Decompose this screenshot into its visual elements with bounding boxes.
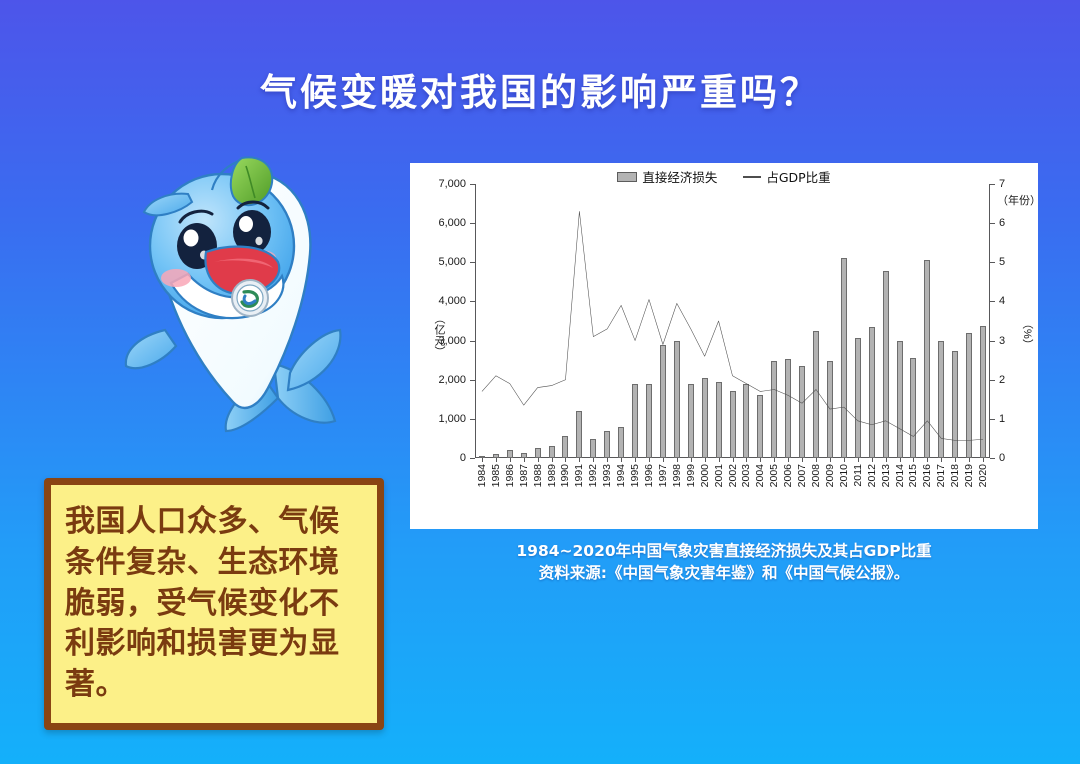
line-series (475, 184, 990, 458)
x-axis-tick (872, 458, 873, 462)
y-axis-right-label: 0 (999, 452, 1005, 464)
x-axis-tick (649, 458, 650, 462)
x-axis-label-2013: 2013 (880, 464, 892, 487)
x-axis-tick (969, 458, 970, 462)
y-axis-right-label: 6 (999, 217, 1005, 229)
x-axis-label-1990: 1990 (559, 464, 571, 487)
x-axis-label-2019: 2019 (963, 464, 975, 487)
x-axis-tick (719, 458, 720, 462)
x-axis-label-2005: 2005 (768, 464, 780, 487)
x-axis-tick (955, 458, 956, 462)
x-axis-label-2006: 2006 (782, 464, 794, 487)
x-axis-tick (774, 458, 775, 462)
x-axis-tick (635, 458, 636, 462)
x-axis-tick (983, 458, 984, 462)
x-axis-label-2018: 2018 (949, 464, 961, 487)
x-axis-tick (900, 458, 901, 462)
x-axis-label-2012: 2012 (866, 464, 878, 487)
x-axis-tick (830, 458, 831, 462)
x-axis-tick (552, 458, 553, 462)
x-axis-label-2008: 2008 (810, 464, 822, 487)
x-axis-label-2003: 2003 (740, 464, 752, 487)
x-axis-tick (886, 458, 887, 462)
chart-plot-area: 1984198519861987198819891990199119921993… (475, 184, 990, 458)
y-axis-right-tick (990, 262, 995, 263)
y-axis-right-tick (990, 223, 995, 224)
x-axis-tick (663, 458, 664, 462)
x-axis-tick (858, 458, 859, 462)
x-axis-tick (510, 458, 511, 462)
y-axis-left-tick (470, 380, 475, 381)
y-axis-unit-right: （%） (1016, 318, 1032, 350)
slide-root: 气候变暖对我国的影响严重吗？ (0, 0, 1080, 764)
y-axis-right-tick (990, 380, 995, 381)
y-axis-right-label: 7 (999, 178, 1005, 190)
x-axis-label-1995: 1995 (629, 464, 641, 487)
y-axis-left-tick (470, 184, 475, 185)
x-axis-label-2015: 2015 (907, 464, 919, 487)
x-axis-label-1991: 1991 (573, 464, 585, 487)
x-axis-tick (579, 458, 580, 462)
chart-panel: 直接经济损失 占GDP比重 （亿元） （%） 1984 (410, 163, 1038, 529)
x-axis-label-2020: 2020 (977, 464, 989, 487)
leaf-icon (231, 157, 272, 205)
y-axis-left-label: 4,000 (438, 295, 466, 307)
x-axis-tick (816, 458, 817, 462)
x-axis-tick (941, 458, 942, 462)
x-axis-tick (677, 458, 678, 462)
whale-flipper (126, 330, 176, 368)
x-axis-label-2002: 2002 (727, 464, 739, 487)
y-axis-right-tick (990, 301, 995, 302)
x-axis-tick (927, 458, 928, 462)
callout-box: 我国人口众多、气候条件复杂、生态环境脆弱，受气候变化不利影响和损害更为显著。 (44, 478, 384, 730)
y-axis-left-label: 3,000 (438, 335, 466, 347)
y-axis-left-label: 7,000 (438, 178, 466, 190)
y-axis-right-label: 4 (999, 295, 1005, 307)
x-axis-label-2011: 2011 (852, 464, 864, 487)
badge-icon (232, 280, 268, 316)
x-axis-tick (788, 458, 789, 462)
x-axis-tick (691, 458, 692, 462)
x-axis-tick (621, 458, 622, 462)
x-axis-tick (524, 458, 525, 462)
x-axis-label-1992: 1992 (587, 464, 599, 487)
x-axis-label-1985: 1985 (490, 464, 502, 487)
y-axis-right-label: 2 (999, 374, 1005, 386)
y-axis-right-label: 5 (999, 256, 1005, 268)
y-axis-left-label: 1,000 (438, 413, 466, 425)
x-axis-label-1998: 1998 (671, 464, 683, 487)
x-axis-tick (607, 458, 608, 462)
y-axis-right-tick (990, 458, 995, 459)
y-axis-left-label: 5,000 (438, 256, 466, 268)
x-axis-label-2017: 2017 (935, 464, 947, 487)
x-axis-label-2010: 2010 (838, 464, 850, 487)
y-axis-left-tick (470, 223, 475, 224)
y-axis-left-tick (470, 341, 475, 342)
x-axis-unit: （年份） (997, 192, 1041, 208)
x-axis-label-1989: 1989 (546, 464, 558, 487)
x-axis-label-1997: 1997 (657, 464, 669, 487)
legend-line-swatch-icon (743, 176, 761, 178)
y-axis-left-label: 2,000 (438, 374, 466, 386)
x-axis-tick (538, 458, 539, 462)
y-axis-right-tick (990, 341, 995, 342)
legend-bar-swatch-icon (617, 172, 637, 182)
chart-caption: 1984~2020年中国气象灾害直接经济损失及其占GDP比重 资料来源:《中国气… (410, 540, 1038, 585)
page-title: 气候变暖对我国的影响严重吗？ (0, 62, 1080, 116)
caption-line-2: 资料来源:《中国气象灾害年鉴》和《中国气候公报》。 (410, 562, 1038, 584)
y-axis-left-tick (470, 301, 475, 302)
x-axis-label-2004: 2004 (754, 464, 766, 487)
blue-whale-mascot (92, 150, 392, 455)
cheek-left (161, 269, 191, 287)
x-axis-label-2007: 2007 (796, 464, 808, 487)
x-axis-tick (733, 458, 734, 462)
y-axis-right-tick (990, 419, 995, 420)
x-axis-label-1993: 1993 (601, 464, 613, 487)
x-axis-tick (482, 458, 483, 462)
x-axis-tick (593, 458, 594, 462)
x-axis-label-1994: 1994 (615, 464, 627, 487)
x-axis-label-1986: 1986 (504, 464, 516, 487)
caption-line-1: 1984~2020年中国气象灾害直接经济损失及其占GDP比重 (410, 540, 1038, 562)
x-axis-label-2016: 2016 (921, 464, 933, 487)
callout-text: 我国人口众多、气候条件复杂、生态环境脆弱，受气候变化不利影响和损害更为显著。 (51, 502, 377, 706)
x-axis-tick (496, 458, 497, 462)
x-axis-label-2001: 2001 (713, 464, 725, 487)
x-axis-label-2000: 2000 (699, 464, 711, 487)
x-axis-label-1999: 1999 (685, 464, 697, 487)
x-axis-label-1988: 1988 (532, 464, 544, 487)
x-axis-tick (802, 458, 803, 462)
y-axis-left-tick (470, 458, 475, 459)
y-axis-left-label: 0 (460, 452, 466, 464)
x-axis-label-1996: 1996 (643, 464, 655, 487)
y-axis-left-tick (470, 419, 475, 420)
x-axis-label-2014: 2014 (894, 464, 906, 487)
y-axis-right-tick (990, 184, 995, 185)
x-axis-tick (844, 458, 845, 462)
x-axis-tick (913, 458, 914, 462)
x-axis-label-2009: 2009 (824, 464, 836, 487)
y-axis-right-label: 3 (999, 335, 1005, 347)
y-axis-left-label: 6,000 (438, 217, 466, 229)
x-axis-tick (760, 458, 761, 462)
y-axis-left-tick (470, 262, 475, 263)
x-axis-label-1984: 1984 (476, 464, 488, 487)
x-axis-tick (565, 458, 566, 462)
x-axis-tick (705, 458, 706, 462)
x-axis-tick (746, 458, 747, 462)
y-axis-right-label: 1 (999, 413, 1005, 425)
x-axis-label-1987: 1987 (518, 464, 530, 487)
